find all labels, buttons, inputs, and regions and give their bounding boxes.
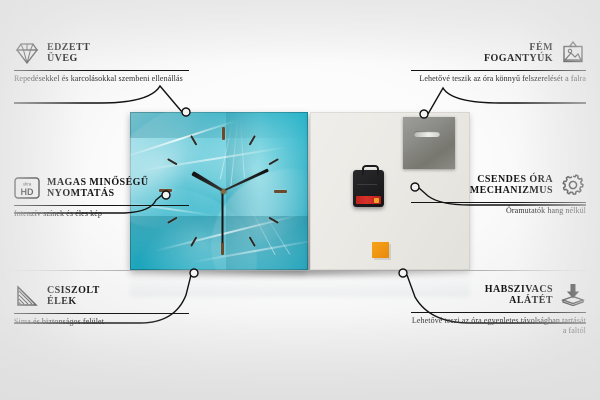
callout-silent-mechanism[interactable]: CSENDES ÓRA MECHANIZMUS Óramutatók hang … [411, 172, 586, 216]
callout-divider [14, 313, 189, 314]
connector-metal-handles [428, 88, 586, 114]
callout-title: FÉM FOGANTYÚK [484, 42, 553, 65]
hanger-slot [414, 131, 440, 137]
callout-title: EDZETT ÜVEG [47, 42, 90, 65]
callout-metal-handles[interactable]: FÉM FOGANTYÚK Lehetővé teszik az óra kön… [411, 40, 586, 84]
callout-divider [411, 70, 586, 71]
mechanism-handle-loop [362, 165, 379, 175]
clock-mechanism [353, 170, 384, 207]
callout-subtitle: Sima és biztonságos felület [14, 317, 189, 327]
diamond-icon [14, 40, 40, 66]
battery-terminal-icon [374, 198, 379, 203]
ultra-hd-icon: ultra HD [14, 175, 40, 201]
callout-hd-print[interactable]: ultra HD MAGAS MINŐSÉGŰ NYOMTATÁS Intenz… [14, 175, 189, 219]
callout-tempered-glass[interactable]: EDZETT ÜVEG Repedésekkel és karcolásokka… [14, 40, 189, 84]
callout-foam-pad[interactable]: HABSZIVACS ALÁTÉT Lehetővé teszi az óra … [411, 282, 586, 336]
callout-subtitle: Lehetővé teszik az óra könnyű felszerelé… [411, 74, 586, 84]
press-down-icon [560, 282, 586, 308]
clock-tick-12 [222, 127, 224, 191]
callout-subtitle: Intenzív színek és éles kép [14, 209, 189, 219]
svg-text:ultra: ultra [23, 182, 32, 187]
infographic-canvas: EDZETT ÜVEG Repedésekkel és karcolásokka… [0, 0, 600, 400]
callout-subtitle: Repedésekkel és karcolásokkal szembeni e… [14, 74, 189, 84]
foam-pad [372, 242, 389, 258]
callout-title: CSISZOLT ÉLEK [47, 285, 100, 308]
polished-edge-icon [14, 283, 40, 309]
clock-tick-3 [223, 190, 287, 192]
callout-divider [411, 202, 586, 203]
callout-subtitle: Óramutatók hang nélkül [411, 206, 586, 216]
clock-center-cap [221, 189, 226, 194]
hanging-frame-icon [560, 40, 586, 66]
callout-divider [14, 205, 189, 206]
metal-hanger-plate [403, 117, 455, 169]
callout-divider [411, 312, 586, 313]
callout-title: MAGAS MINŐSÉGŰ NYOMTATÁS [47, 177, 149, 200]
battery [356, 196, 381, 204]
mechanism-seam [357, 184, 377, 185]
callout-title: HABSZIVACS ALÁTÉT [485, 284, 553, 307]
callout-title: CSENDES ÓRA MECHANIZMUS [470, 174, 553, 197]
callout-divider [14, 70, 189, 71]
connector-tempered-glass [14, 86, 182, 112]
callout-subtitle: Lehetővé teszi az óra egyenletes távolsá… [411, 316, 586, 336]
svg-text:HD: HD [21, 187, 34, 197]
callout-polished-edges[interactable]: CSISZOLT ÉLEK Sima és biztonságos felüle… [14, 283, 189, 327]
gear-icon [560, 172, 586, 198]
